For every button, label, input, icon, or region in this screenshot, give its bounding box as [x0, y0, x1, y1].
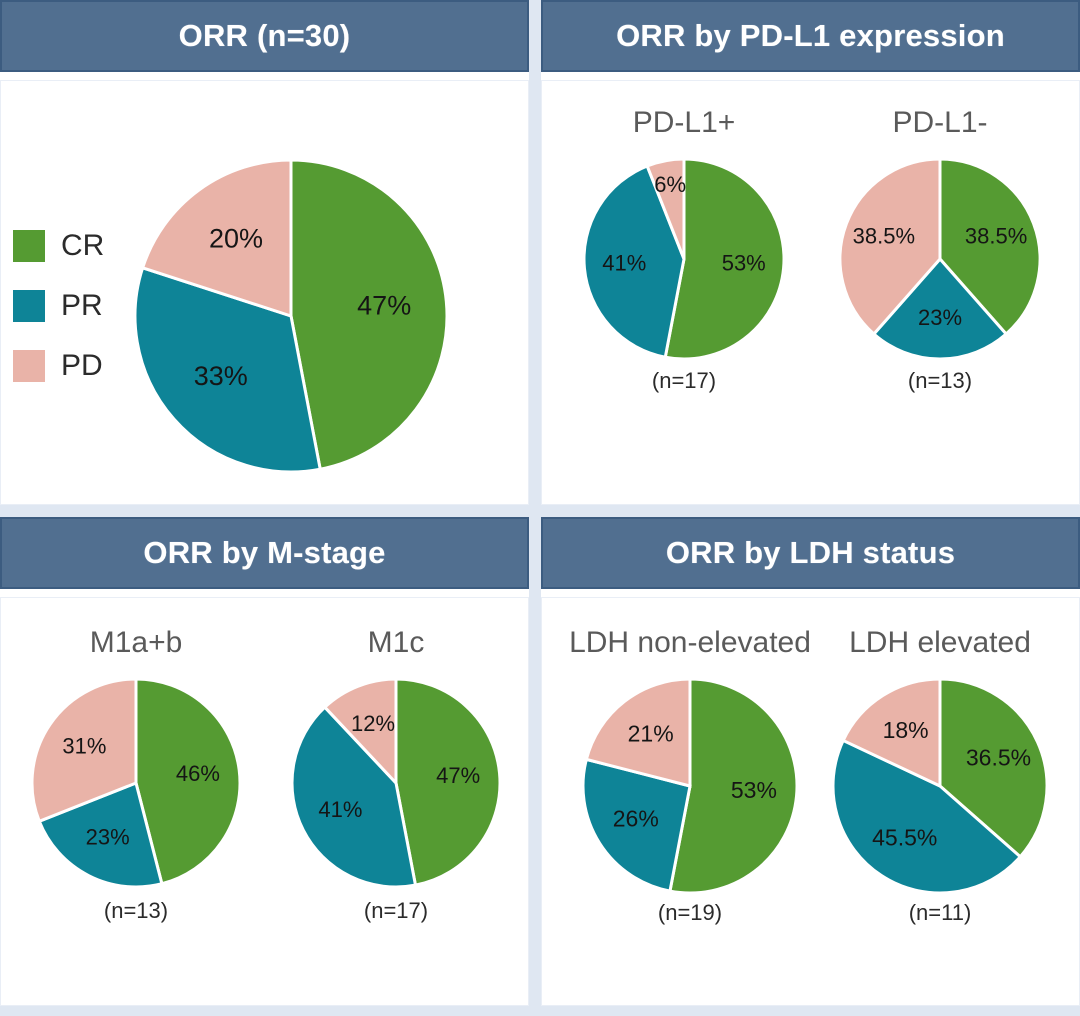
- panel-body-orr-pdl1: PD-L1+ 53%41%6% (n=17) PD-L1- 38.5%23%38…: [541, 80, 1080, 505]
- pie-svg-pdl1-pos: 53%41%6%: [583, 158, 785, 360]
- panel-title-orr-overall: ORR (n=30): [0, 0, 529, 72]
- pie-slice-label-pd: 20%: [209, 223, 263, 253]
- pie-n-ldh-non-elevated: (n=19): [658, 900, 722, 926]
- pie-n-m1ab: (n=13): [104, 898, 168, 924]
- panel-title-orr-pdl1: ORR by PD-L1 expression: [541, 0, 1080, 72]
- pie-slice-label-cr: 53%: [731, 777, 777, 803]
- legend-swatch-cr: [13, 230, 45, 262]
- pie-slice-label-pd: 12%: [351, 711, 395, 736]
- pie-slice-label-cr: 47%: [357, 290, 411, 320]
- pie-title-pdl1-pos: PD-L1+: [633, 106, 736, 140]
- pie-slice-label-cr: 53%: [722, 250, 766, 275]
- legend-item-pr: PR: [13, 289, 104, 323]
- legend-label-cr: CR: [61, 229, 104, 263]
- legend-label-pr: PR: [61, 289, 103, 323]
- pie-ldh-non-elevated: LDH non-elevated 53%26%21% (n=19): [582, 626, 798, 938]
- pie-title-pdl1-neg: PD-L1-: [892, 106, 987, 140]
- panel-orr-pdl1: ORR by PD-L1 expression PD-L1+ 53%41%6% …: [541, 0, 1080, 505]
- legend-item-cr: CR: [13, 229, 104, 263]
- legend-swatch-pd: [13, 350, 45, 382]
- pie-title-m1ab: M1a+b: [90, 626, 183, 660]
- pie-slice-label-cr: 46%: [176, 761, 220, 786]
- panel-orr-ldh: ORR by LDH status LDH non-elevated 53%26…: [541, 517, 1080, 1006]
- pie-slice-label-pd: 6%: [654, 172, 686, 197]
- pie-n-pdl1-pos: (n=17): [652, 368, 716, 394]
- pie-slice-label-pr: 45.5%: [872, 825, 937, 851]
- pie-slice-label-pd: 31%: [62, 734, 106, 759]
- panel-title-orr-ldh: ORR by LDH status: [541, 517, 1080, 589]
- pie-pdl1-pos: PD-L1+ 53%41%6% (n=17): [583, 106, 785, 406]
- pie-n-pdl1-neg: (n=13): [908, 368, 972, 394]
- pie-pdl1-neg: PD-L1- 38.5%23%38.5% (n=13): [839, 106, 1041, 406]
- pie-slice-label-pd: 18%: [883, 717, 929, 743]
- legend-item-pd: PD: [13, 349, 104, 383]
- pie-slice-label-cr: 38.5%: [965, 224, 1027, 249]
- pie-slice-label-cr: 47%: [436, 763, 480, 788]
- pie-slice-label-pr: 26%: [613, 805, 659, 831]
- pie-slice-label-pr: 23%: [86, 824, 130, 849]
- pie-svg-ldh-non-elevated: 53%26%21%: [582, 678, 798, 894]
- panel-orr-overall: ORR (n=30) ORR = 80% CR PR PD 47%33%20%: [0, 0, 529, 505]
- pie-m1ab: M1a+b 46%23%31% (n=13): [31, 626, 241, 936]
- pie-slice-label-pd: 21%: [628, 720, 674, 746]
- pie-title-m1c: M1c: [368, 626, 425, 660]
- panel-body-orr-ldh: LDH non-elevated 53%26%21% (n=19) LDH el…: [541, 597, 1080, 1006]
- pie-svg-overall: 47%33%20%: [134, 159, 450, 475]
- pie-slice-label-pr: 23%: [918, 305, 962, 330]
- pie-svg-ldh-elevated: 36.5%45.5%18%: [832, 678, 1048, 894]
- pie-slice-label-pd: 38.5%: [853, 224, 915, 249]
- panel-body-orr-mstage: M1a+b 46%23%31% (n=13) M1c 47%41%12% (n=…: [0, 597, 529, 1006]
- pie-slice-label-pr: 41%: [602, 250, 646, 275]
- pie-svg-m1c: 47%41%12%: [291, 678, 501, 888]
- pie-slice-label-pr: 41%: [318, 797, 362, 822]
- legend-swatch-pr: [13, 290, 45, 322]
- panel-orr-mstage: ORR by M-stage M1a+b 46%23%31% (n=13) M1…: [0, 517, 529, 1006]
- pie-svg-m1ab: 46%23%31%: [31, 678, 241, 888]
- pie-m1c: M1c 47%41%12% (n=17): [291, 626, 501, 936]
- figure-root: ORR (n=30) ORR = 80% CR PR PD 47%33%20%: [0, 0, 1080, 1016]
- pie-svg-pdl1-neg: 38.5%23%38.5%: [839, 158, 1041, 360]
- pie-n-ldh-elevated: (n=11): [909, 900, 972, 926]
- pie-slice-label-pr: 33%: [194, 361, 248, 391]
- pie-overall: 47%33%20%: [134, 159, 450, 475]
- pie-ldh-elevated: LDH elevated 36.5%45.5%18% (n=11): [832, 626, 1048, 938]
- pie-title-ldh-elevated: LDH elevated: [849, 626, 1031, 660]
- pie-title-ldh-non-elevated: LDH non-elevated: [569, 626, 811, 660]
- pie-slice-label-cr: 36.5%: [966, 745, 1031, 771]
- legend: CR PR PD: [13, 229, 104, 383]
- pie-n-m1c: (n=17): [364, 898, 428, 924]
- legend-label-pd: PD: [61, 349, 103, 383]
- panel-title-orr-mstage: ORR by M-stage: [0, 517, 529, 589]
- panel-body-orr-overall: ORR = 80% CR PR PD 47%33%20%: [0, 80, 529, 505]
